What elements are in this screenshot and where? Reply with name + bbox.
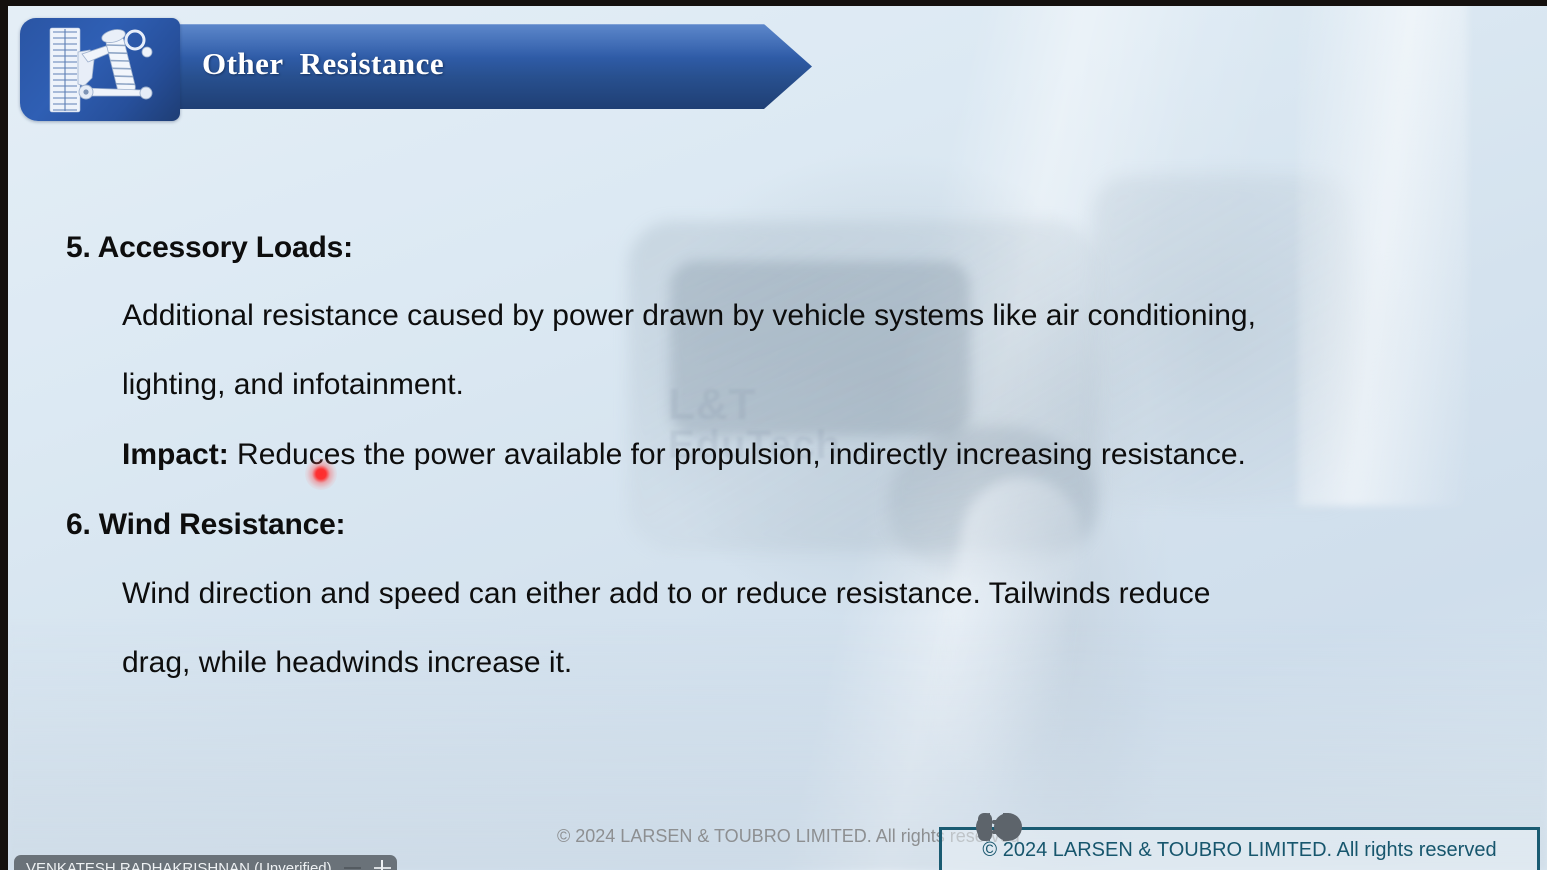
electric-plug-icon xyxy=(956,809,1036,845)
paragraph-accessory-impact: Impact: Reduces the power available for … xyxy=(122,437,1246,472)
minimize-icon[interactable] xyxy=(337,855,367,870)
page-title: Other Resistance xyxy=(202,46,444,82)
presentation-slide-window: L&T EduTech xyxy=(0,0,1547,870)
impact-text: Reduces the power available for propulsi… xyxy=(229,438,1246,471)
copyright-text: © 2024 LARSEN & TOUBRO LIMITED. All righ… xyxy=(982,839,1496,862)
suspension-wheel-icon xyxy=(34,26,169,114)
participant-status-bar[interactable]: VENKATESH RADHAKRISHNAN (Unverified) xyxy=(14,855,397,870)
heading-wind-resistance: 6. Wind Resistance: xyxy=(66,507,345,542)
paragraph-accessory-1: Additional resistance caused by power dr… xyxy=(122,298,1256,333)
paragraph-wind-1: Wind direction and speed can either add … xyxy=(122,576,1210,611)
banner-logo-badge xyxy=(20,18,180,121)
impact-label: Impact: xyxy=(122,438,229,471)
window-frame-left xyxy=(0,0,8,870)
window-frame-top xyxy=(0,0,1547,6)
paragraph-accessory-2: lighting, and infotainment. xyxy=(122,367,464,402)
plus-icon[interactable] xyxy=(367,855,397,870)
slide-content: 5. Accessory Loads: Additional resistanc… xyxy=(8,6,1547,870)
slide-canvas: L&T EduTech xyxy=(8,6,1547,870)
title-banner: Other Resistance xyxy=(12,12,812,114)
participant-name: VENKATESH RADHAKRISHNAN (Unverified) xyxy=(26,860,337,870)
heading-accessory-loads: 5. Accessory Loads: xyxy=(66,230,353,265)
paragraph-wind-2: drag, while headwinds increase it. xyxy=(122,645,572,680)
